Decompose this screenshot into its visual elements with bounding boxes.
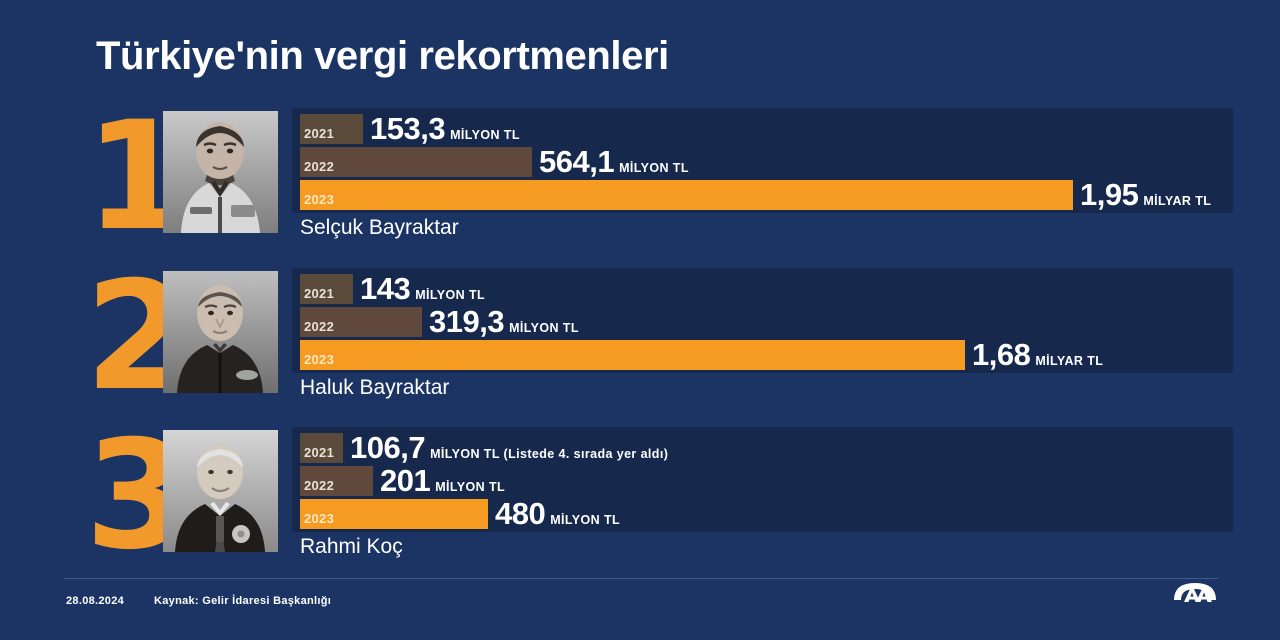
bar-fill-2022: 2022 <box>300 466 373 496</box>
rank-entry-2: 2 <box>0 268 1280 413</box>
bar-unit: MİLYON TL <box>614 161 689 175</box>
bar-value: 143 <box>360 271 410 307</box>
bar-fill-2023: 2023 <box>300 340 965 370</box>
person-name: Selçuk Bayraktar <box>300 216 459 240</box>
bar-unit: MİLYON TL <box>430 480 505 494</box>
bar-unit: MİLYON TL <box>445 128 520 142</box>
bar-value-group: 201 MİLYON TL <box>373 463 505 499</box>
bar-value: 201 <box>380 463 430 499</box>
page-title: Türkiye'nin vergi rekortmenleri <box>96 34 669 79</box>
bar-row-2022: 2022 319,3 MİLYON TL <box>300 307 1240 337</box>
bar-fill-2021: 2021 <box>300 114 363 144</box>
bar-year-label: 2021 <box>300 445 334 463</box>
footer-source: Kaynak: Gelir İdaresi Başkanlığı <box>154 595 331 607</box>
infographic-page: Türkiye'nin vergi rekortmenleri 1 <box>0 0 1280 640</box>
rank-entry-3: 3 <box>0 427 1280 572</box>
bar-fill-2023: 2023 <box>300 499 488 529</box>
bar-year-label: 2023 <box>300 511 334 529</box>
bar-fill-2022: 2022 <box>300 147 532 177</box>
bar-row-2023: 2023 480 MİLYON TL <box>300 499 1240 529</box>
bar-row-2023: 2023 1,68 MİLYAR TL <box>300 340 1240 370</box>
bar-value: 1,95 <box>1080 177 1138 213</box>
bar-value: 319,3 <box>429 304 504 340</box>
aa-logo-icon <box>1164 578 1226 608</box>
bar-fill-2022: 2022 <box>300 307 422 337</box>
bar-value: 480 <box>495 496 545 532</box>
person-name: Rahmi Koç <box>300 535 403 559</box>
bar-row-2021: 2021 143 MİLYON TL <box>300 274 1240 304</box>
bar-fill-2021: 2021 <box>300 433 343 463</box>
bar-value-group: 319,3 MİLYON TL <box>422 304 579 340</box>
bar-row-2022: 2022 564,1 MİLYON TL <box>300 147 1240 177</box>
bar-group-3: 2021 106,7 MİLYON TL (Listede 4. sırada … <box>300 433 1240 532</box>
bar-value: 1,68 <box>972 337 1030 373</box>
bar-unit: MİLYAR TL <box>1030 354 1103 368</box>
bar-fill-2023: 2023 <box>300 180 1073 210</box>
bar-row-2022: 2022 201 MİLYON TL <box>300 466 1240 496</box>
bar-unit: MİLYON TL <box>545 513 620 527</box>
bar-year-label: 2021 <box>300 286 334 304</box>
rank-entry-1: 1 <box>0 108 1280 253</box>
footer-date: 28.08.2024 <box>66 595 124 607</box>
bar-row-2021: 2021 153,3 MİLYON TL <box>300 114 1240 144</box>
bar-value: 153,3 <box>370 111 445 147</box>
bar-value-group: 153,3 MİLYON TL <box>363 111 520 147</box>
bar-unit: MİLYON TL <box>504 321 579 335</box>
bar-value-group: 1,68 MİLYAR TL <box>965 337 1103 373</box>
footer-divider <box>64 578 1218 579</box>
bar-unit: MİLYON TL <box>410 288 485 302</box>
bar-value-group: 106,7 MİLYON TL (Listede 4. sırada yer a… <box>343 430 668 466</box>
bar-value: 106,7 <box>350 430 425 466</box>
bar-fill-2021: 2021 <box>300 274 353 304</box>
portrait-selcuk-bayraktar <box>163 111 278 233</box>
person-name: Haluk Bayraktar <box>300 376 449 400</box>
bar-group-2: 2021 143 MİLYON TL 2022 319,3 MİLYON TL <box>300 274 1240 373</box>
bar-year-label: 2022 <box>300 319 334 337</box>
bar-unit-note: MİLYON TL (Listede 4. sırada yer aldı) <box>425 447 668 461</box>
bar-row-2023: 2023 1,95 MİLYAR TL <box>300 180 1240 210</box>
bar-value: 564,1 <box>539 144 614 180</box>
bar-year-label: 2023 <box>300 192 334 210</box>
portrait-haluk-bayraktar <box>163 271 278 393</box>
bar-group-1: 2021 153,3 MİLYON TL 2022 564,1 MİLYON T… <box>300 114 1240 213</box>
portrait-rahmi-koc <box>163 430 278 552</box>
bar-value-group: 480 MİLYON TL <box>488 496 620 532</box>
bar-year-label: 2021 <box>300 126 334 144</box>
bar-year-label: 2023 <box>300 352 334 370</box>
bar-unit: MİLYAR TL <box>1138 194 1211 208</box>
bar-value-group: 1,95 MİLYAR TL <box>1073 177 1211 213</box>
bar-row-2021: 2021 106,7 MİLYON TL (Listede 4. sırada … <box>300 433 1240 463</box>
bar-year-label: 2022 <box>300 159 334 177</box>
bar-value-group: 564,1 MİLYON TL <box>532 144 689 180</box>
bar-year-label: 2022 <box>300 478 334 496</box>
bar-value-group: 143 MİLYON TL <box>353 271 485 307</box>
